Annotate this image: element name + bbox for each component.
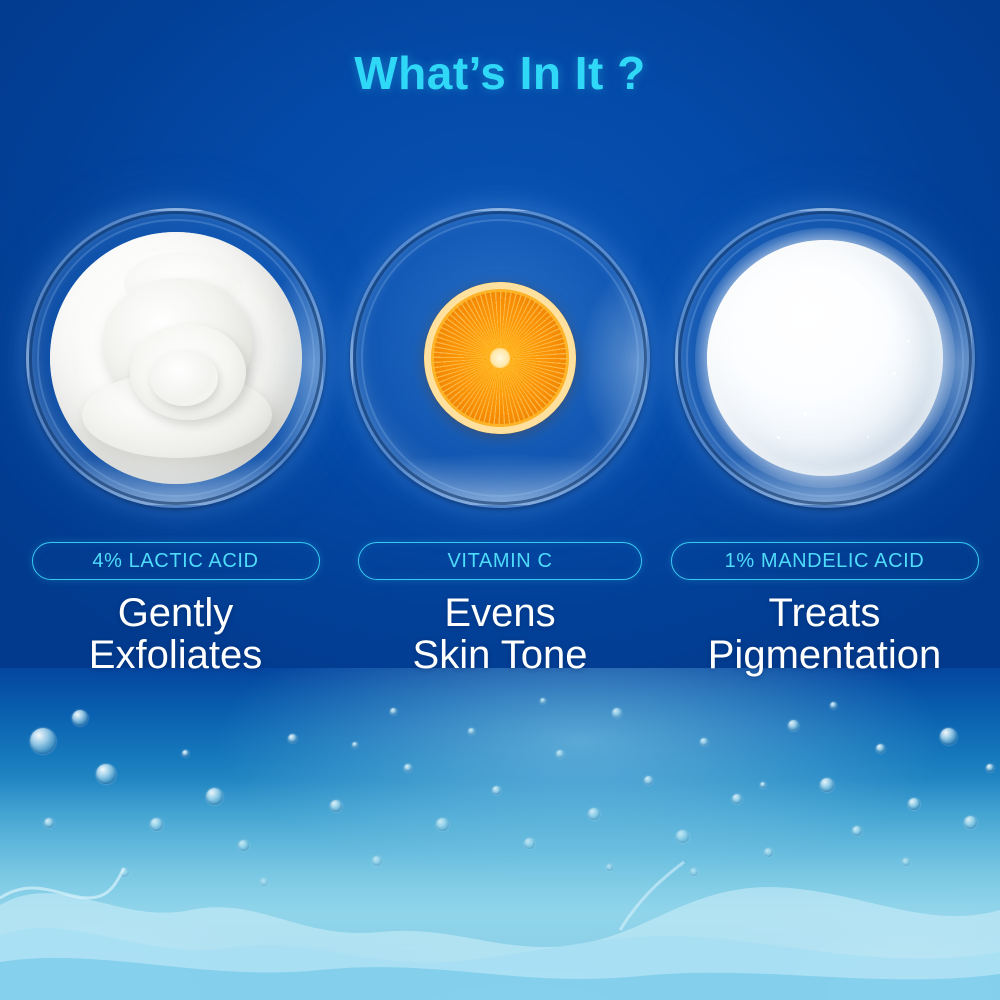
glass-rim [675, 208, 975, 508]
ingredient-benefit-lactic-acid: Gently Exfoliates [89, 592, 262, 677]
water-droplet-icon [964, 816, 977, 829]
water-droplet-icon [404, 764, 412, 772]
wave-shape-icon [0, 810, 1000, 1000]
water-droplet-icon [492, 786, 501, 795]
ingredient-benefit-vitamin-c: Evens Skin Tone [413, 592, 588, 677]
water-droplet-icon [436, 818, 449, 831]
water-droplet-icon [556, 750, 564, 758]
glass-dish-powder [675, 208, 975, 508]
water-droplet-icon [288, 734, 297, 743]
water-droplet-icon [206, 788, 223, 805]
water-droplet-icon [876, 744, 885, 753]
water-droplet-icon [902, 858, 910, 866]
ingredient-card-mandelic-acid[interactable]: 1% MANDELIC ACID Treats Pigmentation [667, 208, 982, 677]
ingredient-card-vitamin-c[interactable]: VITAMIN C Evens Skin Tone [343, 208, 658, 677]
water-droplet-icon [852, 826, 862, 836]
water-droplet-icon [30, 728, 56, 754]
water-droplet-icon [700, 738, 708, 746]
ingredient-benefit-mandelic-acid: Treats Pigmentation [708, 592, 941, 677]
water-droplet-icon [940, 728, 957, 745]
water-droplet-icon [986, 764, 994, 772]
water-droplet-icon [644, 776, 653, 785]
ingredient-columns: 4% LACTIC ACID Gently Exfoliates VITAMIN… [0, 208, 1000, 728]
water-droplet-icon [238, 840, 249, 851]
water-droplet-icon [330, 800, 342, 812]
water-droplet-icon [44, 818, 54, 828]
water-droplet-icon [820, 778, 834, 792]
water-droplet-icon [96, 764, 116, 784]
glass-dish-orange [350, 208, 650, 508]
ingredient-pill-vitamin-c[interactable]: VITAMIN C [358, 542, 642, 580]
ingredient-pill-lactic-acid[interactable]: 4% LACTIC ACID [32, 542, 320, 580]
water-droplet-icon [908, 798, 920, 810]
water-droplet-icon [732, 794, 742, 804]
water-droplet-icon [120, 868, 129, 877]
water-droplet-icon [676, 830, 689, 843]
water-droplet-icon [760, 782, 766, 788]
ingredient-pill-mandelic-acid[interactable]: 1% MANDELIC ACID [671, 542, 979, 580]
water-droplet-icon [260, 878, 268, 886]
glass-dish-cream [26, 208, 326, 508]
glass-rim [350, 208, 650, 508]
ingredient-card-lactic-acid[interactable]: 4% LACTIC ACID Gently Exfoliates [18, 208, 333, 677]
glass-rim [26, 208, 326, 508]
water-droplet-icon [606, 864, 613, 871]
splash-mass [0, 780, 1000, 1000]
page-title: What’s In It ? [0, 46, 1000, 100]
water-droplet-icon [182, 750, 189, 757]
water-droplet-icon [352, 742, 358, 748]
water-droplet-icon [690, 868, 698, 876]
water-droplet-icon [372, 856, 382, 866]
water-droplet-icon [764, 848, 773, 857]
water-droplet-icon [588, 808, 600, 820]
water-droplet-icon [150, 818, 163, 831]
water-droplet-icon [468, 728, 475, 735]
water-droplet-icon [524, 838, 535, 849]
ingredient-infographic: What’s In It ? 4% LACTIC ACID Gently Exf… [0, 0, 1000, 1000]
